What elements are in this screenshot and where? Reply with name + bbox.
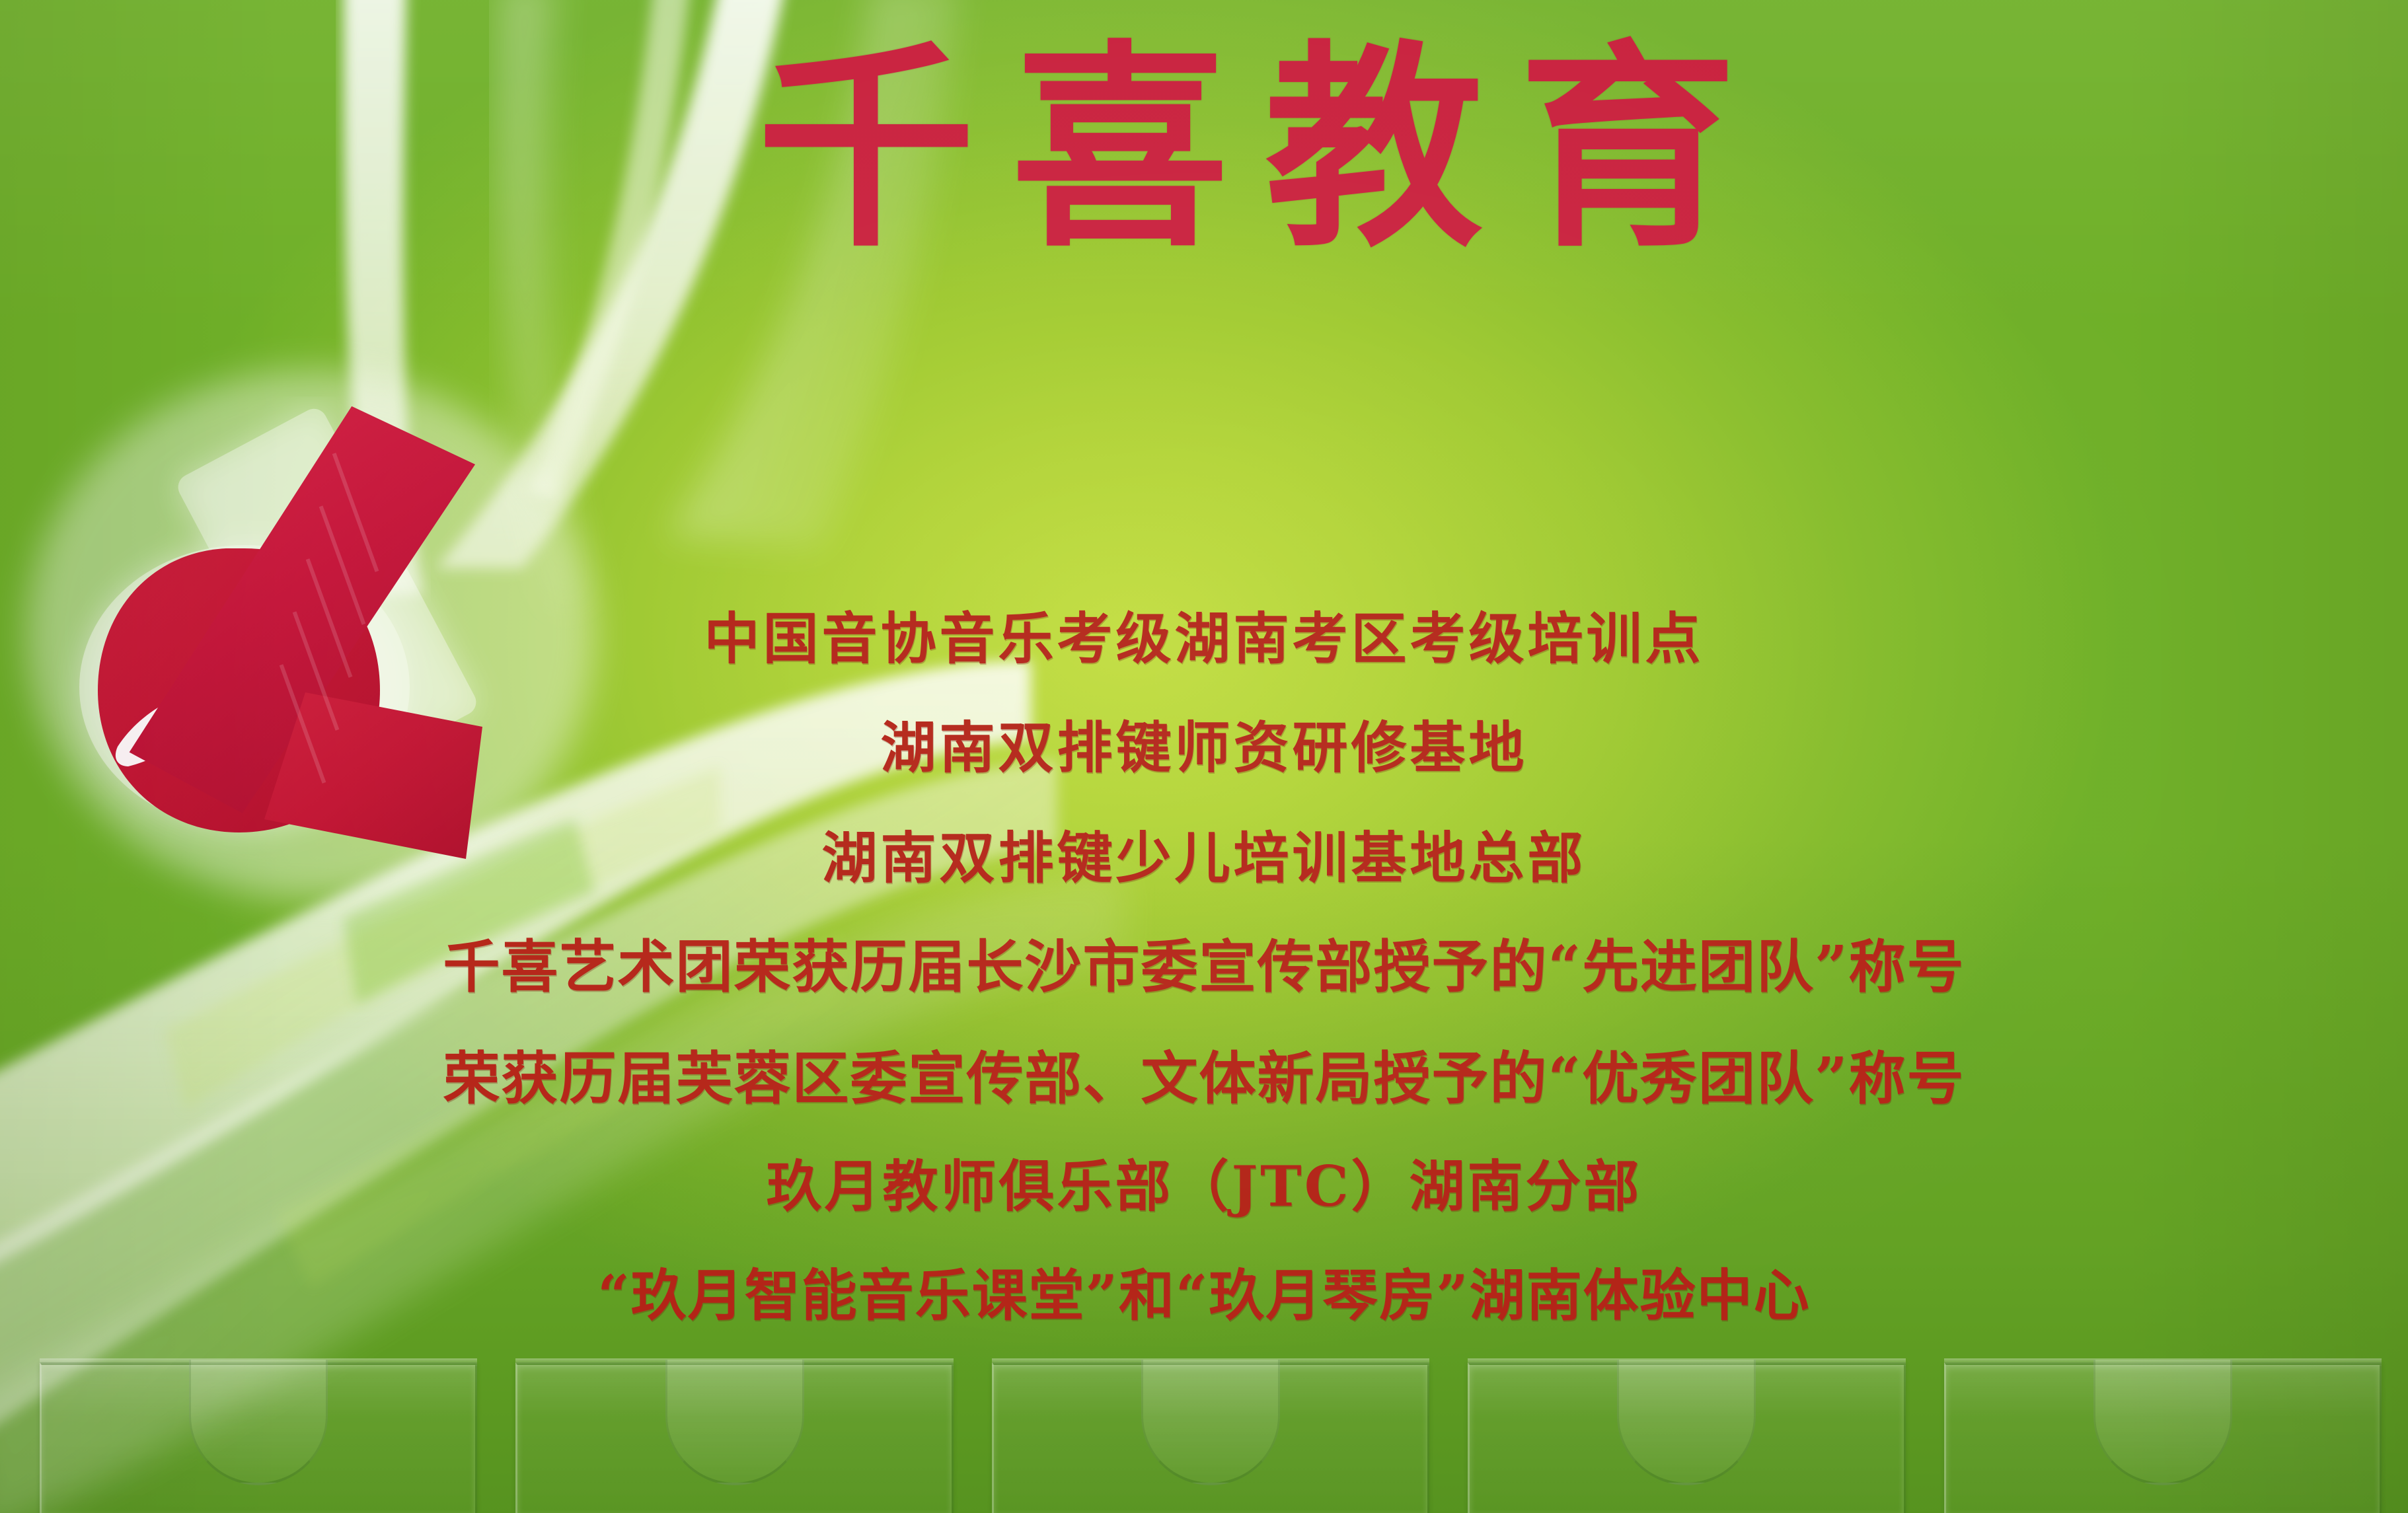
brochure-holder-rail xyxy=(0,1295,2408,1513)
brochure-holder[interactable] xyxy=(1944,1321,2382,1513)
credential-line-6: 玖月教师俱乐部（JTC）湖南分部 xyxy=(0,1142,2408,1222)
brochure-holder[interactable] xyxy=(515,1321,953,1513)
brochure-holder[interactable] xyxy=(40,1321,477,1513)
education-signage-board: 千喜教育 中国音协音乐考级湖南考区考级培训点 湖南双排键师资研修基地 湖南双排键… xyxy=(0,0,2408,1513)
credentials-list: 中国音协音乐考级湖南考区考级培训点 湖南双排键师资研修基地 湖南双排键少儿培训基… xyxy=(0,595,2408,1331)
brochure-holder[interactable] xyxy=(992,1321,1429,1513)
title-block: 千喜教育 xyxy=(0,26,2408,271)
credential-line-2: 湖南双排键师资研修基地 xyxy=(0,704,2408,784)
organization-title: 千喜教育 xyxy=(722,26,1772,271)
credential-line-5: 荣获历届芙蓉区委宣传部、文体新局授予的“优秀团队”称号 xyxy=(0,1032,2408,1115)
brochure-holder[interactable] xyxy=(1468,1321,1905,1513)
credential-line-4: 千喜艺术团荣获历届长沙市委宣传部授予的“先进团队”称号 xyxy=(0,920,2408,1003)
credential-line-1: 中国音协音乐考级湖南考区考级培训点 xyxy=(0,595,2408,675)
credential-line-3: 湖南双排键少儿培训基地总部 xyxy=(0,814,2408,894)
